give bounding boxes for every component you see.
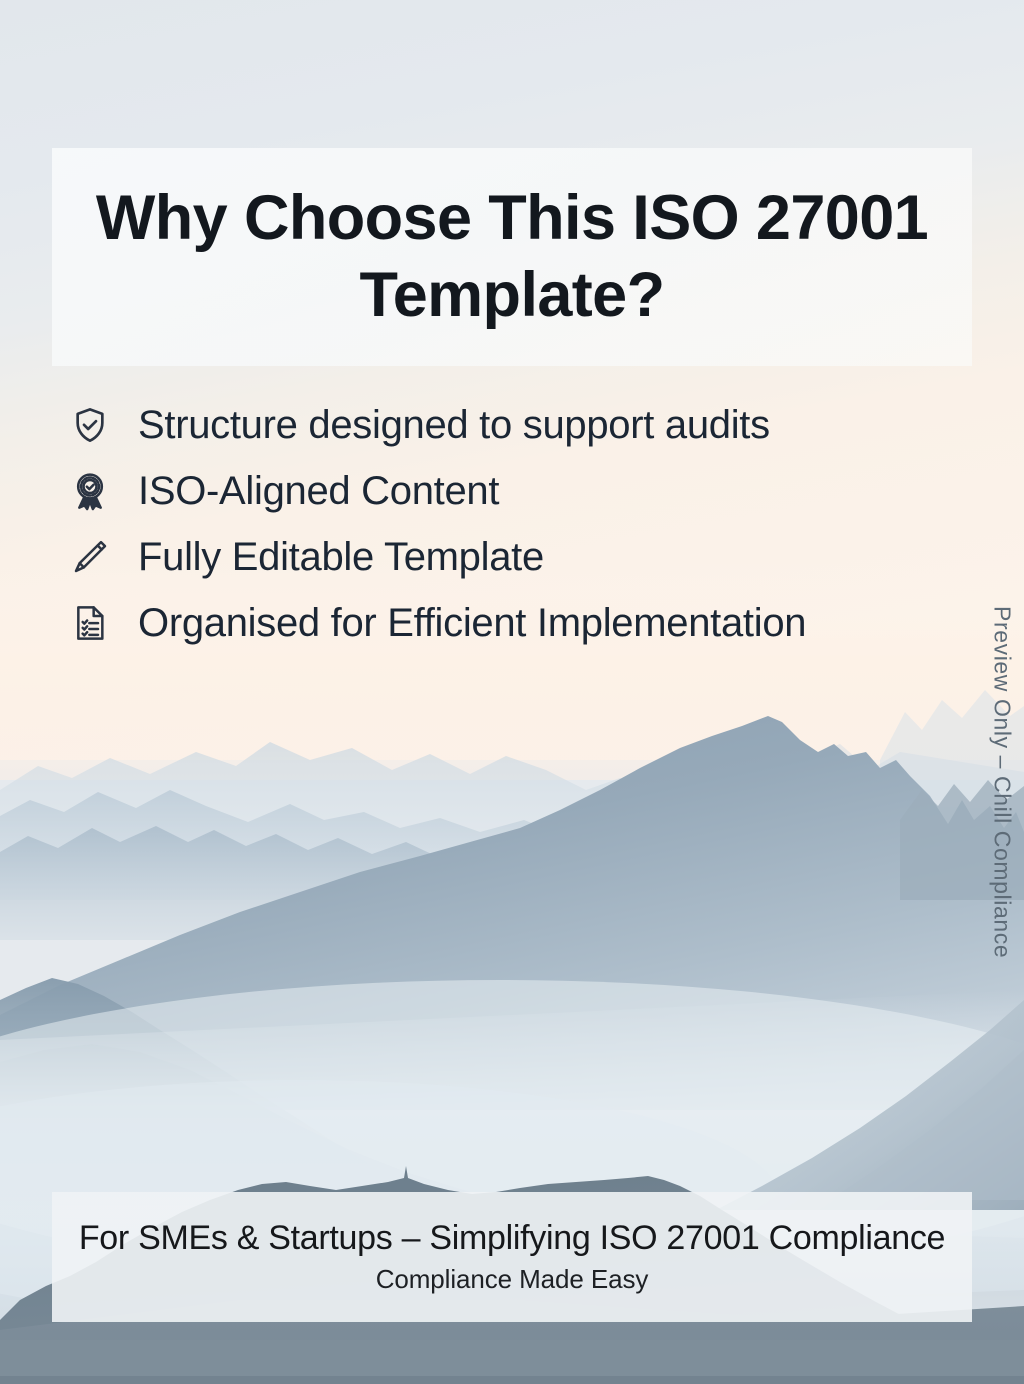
title-panel: Why Choose This ISO 27001 Template? bbox=[52, 148, 972, 366]
document-checklist-icon bbox=[66, 599, 114, 647]
feature-item-structure: Structure designed to support audits bbox=[66, 392, 966, 458]
award-rosette-check-icon bbox=[66, 467, 114, 515]
bottom-banner: For SMEs & Startups – Simplifying ISO 27… bbox=[52, 1192, 972, 1322]
page-title: Why Choose This ISO 27001 Template? bbox=[52, 180, 972, 334]
feature-label: ISO-Aligned Content bbox=[138, 471, 499, 511]
feature-label: Fully Editable Template bbox=[138, 537, 544, 577]
banner-secondary-text: Compliance Made Easy bbox=[376, 1264, 649, 1295]
feature-item-editable: Fully Editable Template bbox=[66, 524, 966, 590]
feature-label: Organised for Efficient Implementation bbox=[138, 603, 806, 643]
pencil-icon bbox=[66, 533, 114, 581]
feature-item-iso-aligned: ISO-Aligned Content bbox=[66, 458, 966, 524]
feature-label: Structure designed to support audits bbox=[138, 405, 770, 445]
banner-primary-text: For SMEs & Startups – Simplifying ISO 27… bbox=[79, 1219, 945, 1258]
feature-item-organised: Organised for Efficient Implementation bbox=[66, 590, 966, 656]
poster-canvas: Why Choose This ISO 27001 Template? Stru… bbox=[0, 0, 1024, 1384]
shield-check-icon bbox=[66, 401, 114, 449]
feature-list: Structure designed to support audits ISO… bbox=[66, 392, 966, 656]
